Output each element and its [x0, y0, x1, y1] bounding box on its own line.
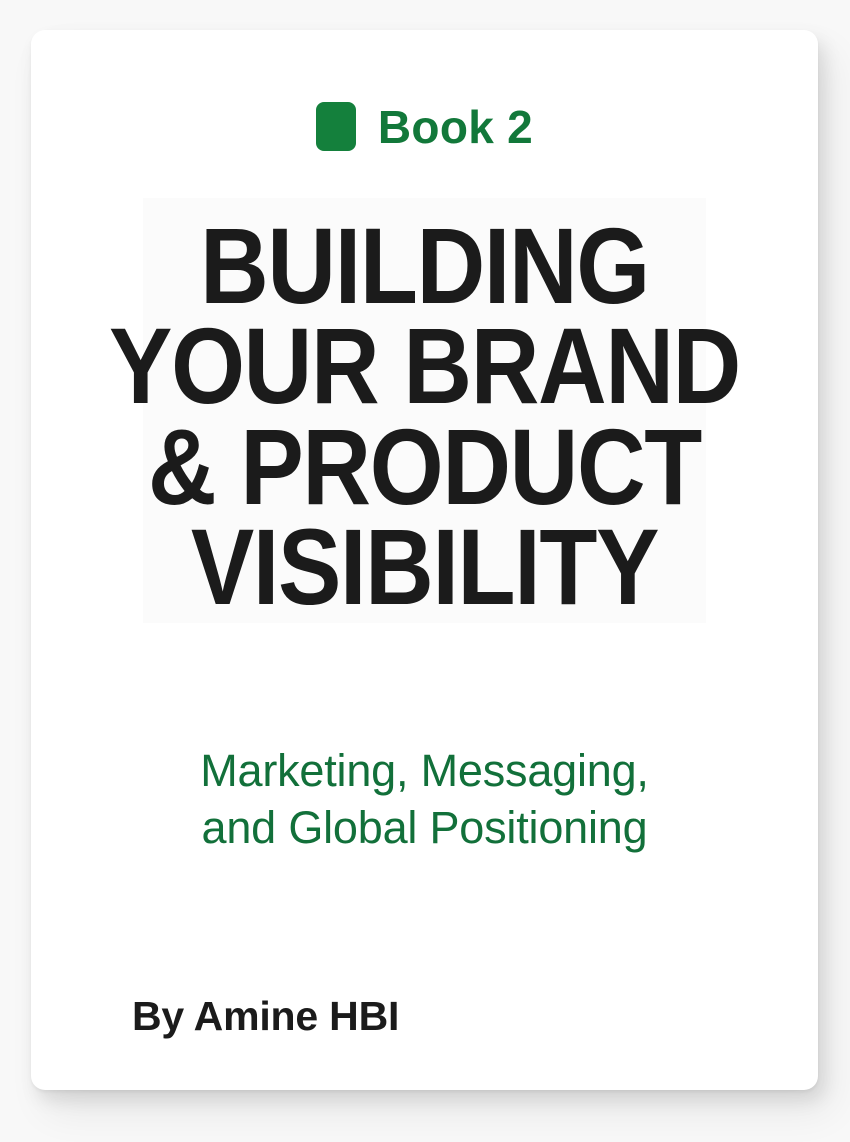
author-byline: By Amine HBI: [132, 993, 399, 1040]
subtitle-line-1: Marketing, Messaging,: [31, 742, 818, 799]
book-badge: Book 2: [31, 102, 818, 151]
title-line-3: & PRODUCT: [78, 417, 771, 517]
cover-canvas: Book 2 BUILDING YOUR BRAND & PRODUCT VIS…: [0, 0, 850, 1142]
green-rounded-square-icon: [316, 102, 356, 151]
title-line-1: BUILDING: [78, 216, 771, 316]
cover-subtitle: Marketing, Messaging, and Global Positio…: [31, 742, 818, 856]
book-cover-page: Book 2 BUILDING YOUR BRAND & PRODUCT VIS…: [31, 30, 818, 1090]
cover-title: BUILDING YOUR BRAND & PRODUCT VISIBILITY: [31, 216, 818, 618]
subtitle-line-2: and Global Positioning: [31, 799, 818, 856]
title-line-4: VISIBILITY: [78, 517, 771, 617]
book-number-label: Book 2: [378, 104, 533, 150]
title-line-2: YOUR BRAND: [78, 316, 771, 416]
